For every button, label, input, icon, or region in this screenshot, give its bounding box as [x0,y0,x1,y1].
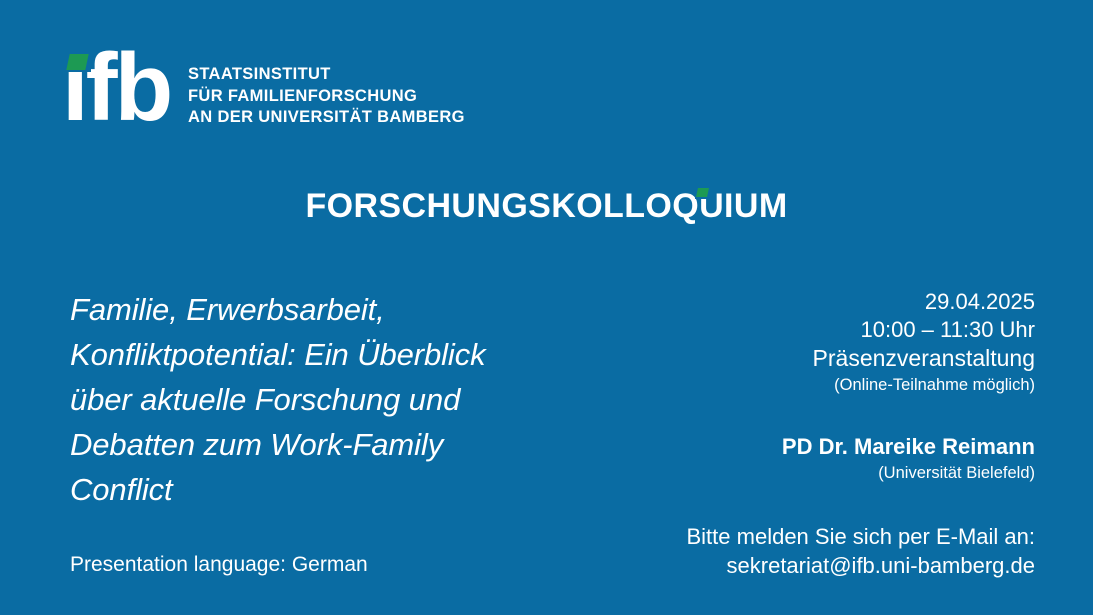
speaker-name: PD Dr. Mareike Reimann [615,433,1035,462]
green-parallelogram-icon [66,54,88,70]
event-details-column: 29.04.2025 10:00 – 11:30 Uhr Präsenzvera… [615,288,1035,580]
talk-title: Familie, Erwerbsarbeit, Konfliktpotentia… [70,288,590,513]
talk-title-line-1: Familie, Erwerbsarbeit, [70,288,590,333]
green-parallelogram-icon [696,188,709,197]
contact-email[interactable]: sekretariat@ifb.uni-bamberg.de [615,552,1035,581]
page-title-text: FORSCHUNGSKOLLOQUIUM [305,187,787,225]
event-format: Präsenzveranstaltung [615,344,1035,374]
event-format-note: (Online-Teilnahme möglich) [615,374,1035,396]
ifb-logo: ifb STAATSINSTITUT FÜR FAMILIENFORSCHUNG… [62,48,465,140]
institute-line-2: FÜR FAMILIENFORSCHUNG [188,86,465,108]
institute-name: STAATSINSTITUT FÜR FAMILIENFORSCHUNG AN … [188,48,465,129]
contact-instruction: Bitte melden Sie sich per E-Mail an: [615,523,1035,552]
event-date-group: 29.04.2025 10:00 – 11:30 Uhr Präsenzvera… [615,288,1035,396]
poster-canvas: ifb STAATSINSTITUT FÜR FAMILIENFORSCHUNG… [0,0,1093,615]
talk-title-line-2: Konfliktpotential: Ein Überblick [70,333,590,378]
ifb-logo-mark: ifb [62,48,174,140]
event-time: 10:00 – 11:30 Uhr [615,316,1035,344]
event-date: 29.04.2025 [615,288,1035,316]
institute-line-1: STAATSINSTITUT [188,64,465,86]
speaker-affiliation: (Universität Bielefeld) [615,462,1035,485]
talk-title-line-5: Conflict [70,468,590,513]
institute-line-3: AN DER UNIVERSITÄT BAMBERG [188,107,465,129]
talk-title-line-3: über aktuelle Forschung und [70,378,590,423]
talk-title-line-4: Debatten zum Work-Family [70,423,590,468]
presentation-language: Presentation language: German [70,551,590,578]
page-title: FORSCHUNGSKOLLOQUIUM [305,189,787,223]
speaker-group: PD Dr. Mareike Reimann (Universität Biel… [615,433,1035,485]
talk-info-column: Familie, Erwerbsarbeit, Konfliktpotentia… [70,288,590,578]
contact-group: Bitte melden Sie sich per E-Mail an: sek… [615,523,1035,580]
page-title-wrapper: FORSCHUNGSKOLLOQUIUM [0,189,1093,223]
